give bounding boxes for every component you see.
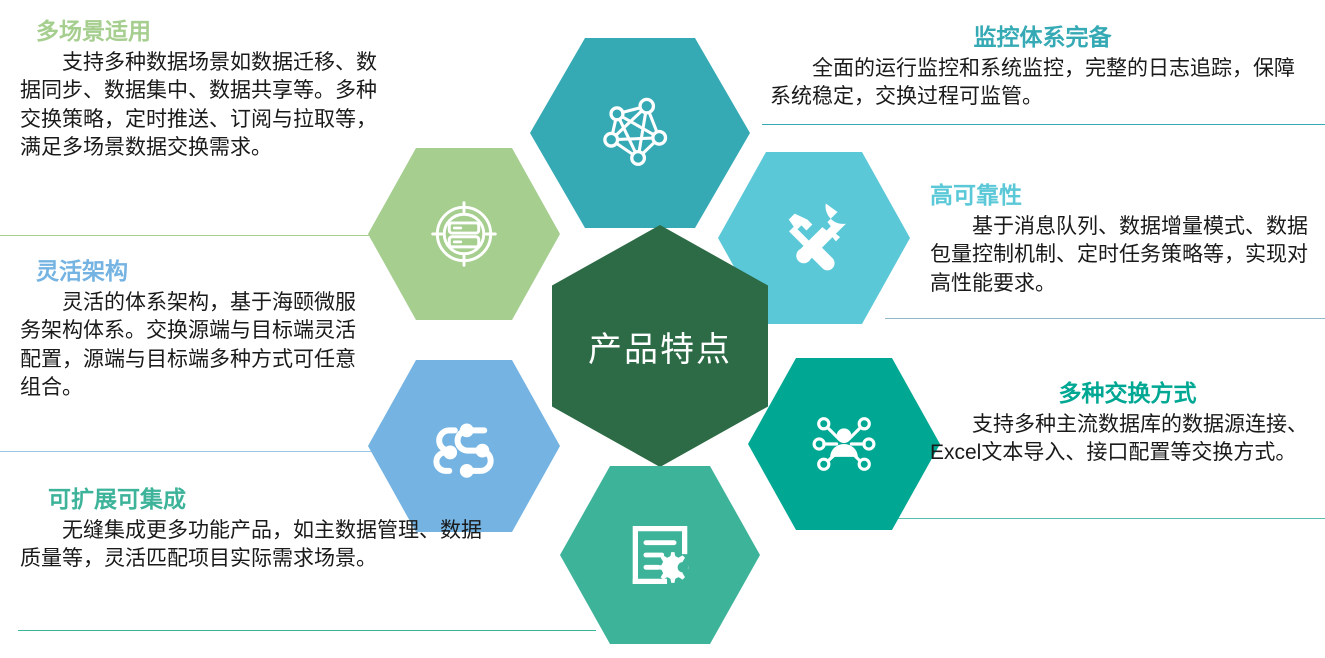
feature-monitoring-body: 全面的运行监控和系统监控，完整的日志追踪，保障系统稳定，交换过程可监管。	[760, 55, 1325, 112]
divider-reliability	[885, 318, 1325, 319]
feature-flexible-arch-title: 灵活架构	[20, 258, 376, 286]
hex-left-upper[interactable]	[368, 148, 560, 320]
feature-exchange-modes-body: 支持多种主流数据库的数据源连接、Excel文本导入、接口配置等交换方式。	[930, 411, 1325, 468]
feature-exchange-modes-title: 多种交换方式	[930, 380, 1325, 408]
feature-reliability: 高可靠性 基于消息队列、数据增量模式、数据包量控制机制、定时任务策略等，实现对高…	[930, 182, 1325, 298]
feature-extensible: 可扩展可集成 无缝集成更多功能产品，如主数据管理、数据质量等，灵活匹配项目实际需…	[20, 486, 490, 574]
center-title: 产品特点	[588, 322, 732, 371]
divider-exchange	[885, 518, 1325, 519]
feature-monitoring-title: 监控体系完备	[760, 24, 1325, 52]
infographic-canvas: 产品特点	[0, 0, 1325, 658]
divider-monitoring	[762, 124, 1325, 125]
feature-monitoring: 监控体系完备 全面的运行监控和系统监控，完整的日志追踪，保障系统稳定，交换过程可…	[760, 24, 1325, 112]
feature-flexible-arch-body: 灵活的体系架构，基于海颐微服务架构体系。交换源端与目标端灵活配置，源端与目标端多…	[20, 289, 376, 403]
feature-multi-scene-body: 支持多种数据场景如数据迁移、数据同步、数据集中、数据共享等。多种交换策略，定时推…	[20, 49, 388, 163]
hex-top[interactable]	[530, 38, 750, 228]
divider-multi-scene	[0, 235, 375, 236]
feature-multi-scene: 多场景适用 支持多种数据场景如数据迁移、数据同步、数据集中、数据共享等。多种交换…	[20, 18, 388, 163]
feature-flexible-arch: 灵活架构 灵活的体系架构，基于海颐微服务架构体系。交换源端与目标端灵活配置，源端…	[20, 258, 376, 403]
feature-extensible-body: 无缝集成更多功能产品，如主数据管理、数据质量等，灵活匹配项目实际需求场景。	[20, 517, 490, 574]
target-server-icon	[418, 188, 510, 280]
flow-path-icon	[418, 400, 510, 492]
divider-flexible-arch	[0, 451, 372, 452]
feature-reliability-title: 高可靠性	[930, 182, 1325, 210]
feature-exchange-modes: 多种交换方式 支持多种主流数据库的数据源连接、Excel文本导入、接口配置等交换…	[930, 380, 1325, 468]
hex-bottom[interactable]	[560, 466, 760, 644]
feature-multi-scene-title: 多场景适用	[20, 18, 388, 46]
feature-extensible-title: 可扩展可集成	[20, 486, 490, 514]
divider-extensible	[18, 630, 596, 631]
user-network-icon	[798, 398, 890, 490]
feature-reliability-body: 基于消息队列、数据增量模式、数据包量控制机制、定时任务策略等，实现对高性能要求。	[930, 213, 1325, 299]
wrench-screwdriver-icon	[772, 196, 856, 280]
document-gear-icon	[616, 511, 704, 599]
hex-right-lower[interactable]	[748, 358, 940, 530]
network-graph-icon	[592, 85, 688, 181]
